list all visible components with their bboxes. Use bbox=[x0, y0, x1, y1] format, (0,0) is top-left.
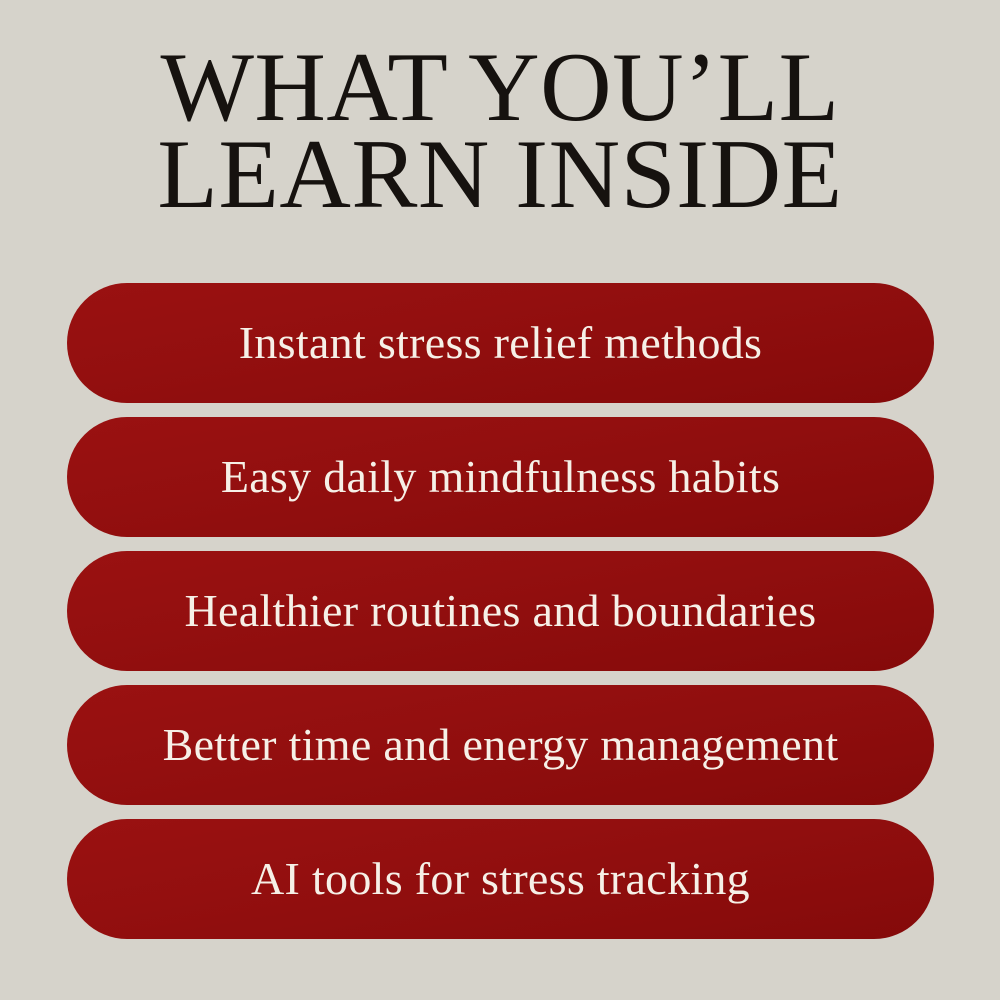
benefit-pill-4[interactable]: Better time and energy management bbox=[67, 685, 934, 805]
benefit-pill-2[interactable]: Easy daily mindfulness habits bbox=[67, 417, 934, 537]
benefit-pill-4-label: Better time and energy management bbox=[93, 722, 909, 768]
benefit-pill-3[interactable]: Healthier routines and boundaries bbox=[67, 551, 934, 671]
benefit-pill-1-label: Instant stress relief methods bbox=[169, 320, 833, 366]
poster-canvas: WHAT YOU’LL LEARN INSIDE Instant stress … bbox=[0, 0, 1000, 1000]
page-title-line-2: LEARN INSIDE bbox=[50, 131, 950, 218]
page-title-line-1: WHAT YOU’LL bbox=[50, 44, 950, 131]
benefit-pill-1[interactable]: Instant stress relief methods bbox=[67, 283, 934, 403]
benefit-pill-2-label: Easy daily mindfulness habits bbox=[151, 454, 850, 500]
page-title: WHAT YOU’LL LEARN INSIDE bbox=[50, 44, 950, 218]
benefit-pill-list: Instant stress relief methods Easy daily… bbox=[67, 283, 934, 939]
benefit-pill-5-label: AI tools for stress tracking bbox=[181, 856, 820, 902]
benefit-pill-5[interactable]: AI tools for stress tracking bbox=[67, 819, 934, 939]
benefit-pill-3-label: Healthier routines and boundaries bbox=[115, 588, 887, 634]
